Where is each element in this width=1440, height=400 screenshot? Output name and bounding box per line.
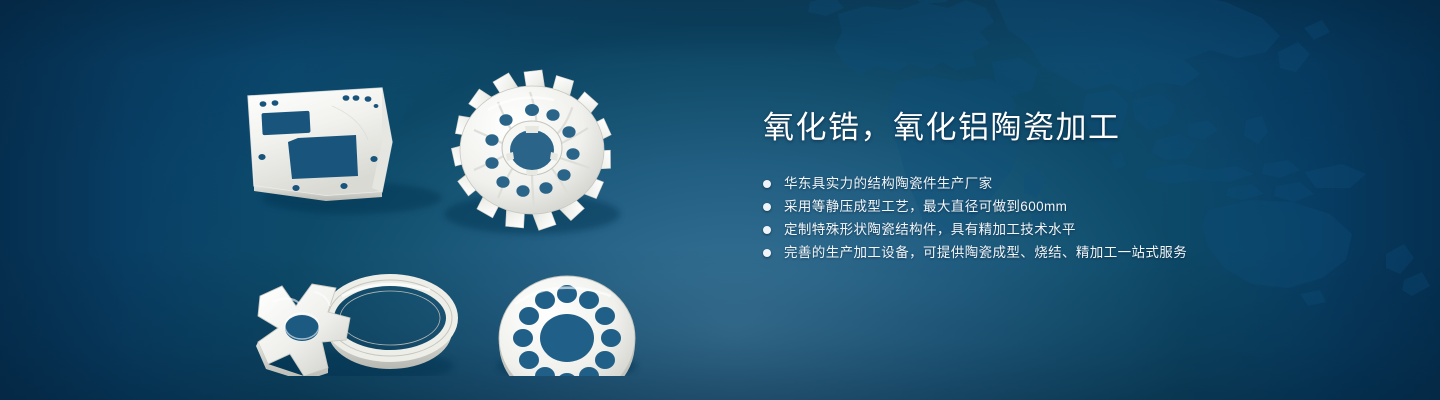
page-title: 氧化锆，氧化铝陶瓷加工 xyxy=(763,108,1383,148)
bullet-dot-icon xyxy=(763,226,771,234)
banner-copy: 氧化锆，氧化铝陶瓷加工 华东具实力的结构陶瓷件生产厂家 采用等静压成型工艺，最大… xyxy=(763,108,1383,264)
bullet-dot-icon xyxy=(763,203,771,211)
list-item: 采用等静压成型工艺，最大直径可做到600mm xyxy=(763,195,1383,218)
bullet-dot-icon xyxy=(763,249,771,257)
hero-banner: 氧化锆，氧化铝陶瓷加工 华东具实力的结构陶瓷件生产厂家 采用等静压成型工艺，最大… xyxy=(0,0,1440,400)
list-item: 定制特殊形状陶瓷结构件，具有精加工技术水平 xyxy=(763,218,1383,241)
list-item: 完善的生产加工设备，可提供陶瓷成型、烧结、精加工一站式服务 xyxy=(763,241,1383,264)
list-item: 华东具实力的结构陶瓷件生产厂家 xyxy=(763,172,1383,195)
feature-text: 采用等静压成型工艺，最大直径可做到600mm xyxy=(784,195,1067,218)
feature-text: 完善的生产加工设备，可提供陶瓷成型、烧结、精加工一站式服务 xyxy=(784,241,1187,264)
feature-text: 定制特殊形状陶瓷结构件，具有精加工技术水平 xyxy=(784,218,1076,241)
feature-list: 华东具实力的结构陶瓷件生产厂家 采用等静压成型工艺，最大直径可做到600mm 定… xyxy=(763,172,1383,264)
bullet-dot-icon xyxy=(763,180,771,188)
feature-text: 华东具实力的结构陶瓷件生产厂家 xyxy=(784,172,993,195)
